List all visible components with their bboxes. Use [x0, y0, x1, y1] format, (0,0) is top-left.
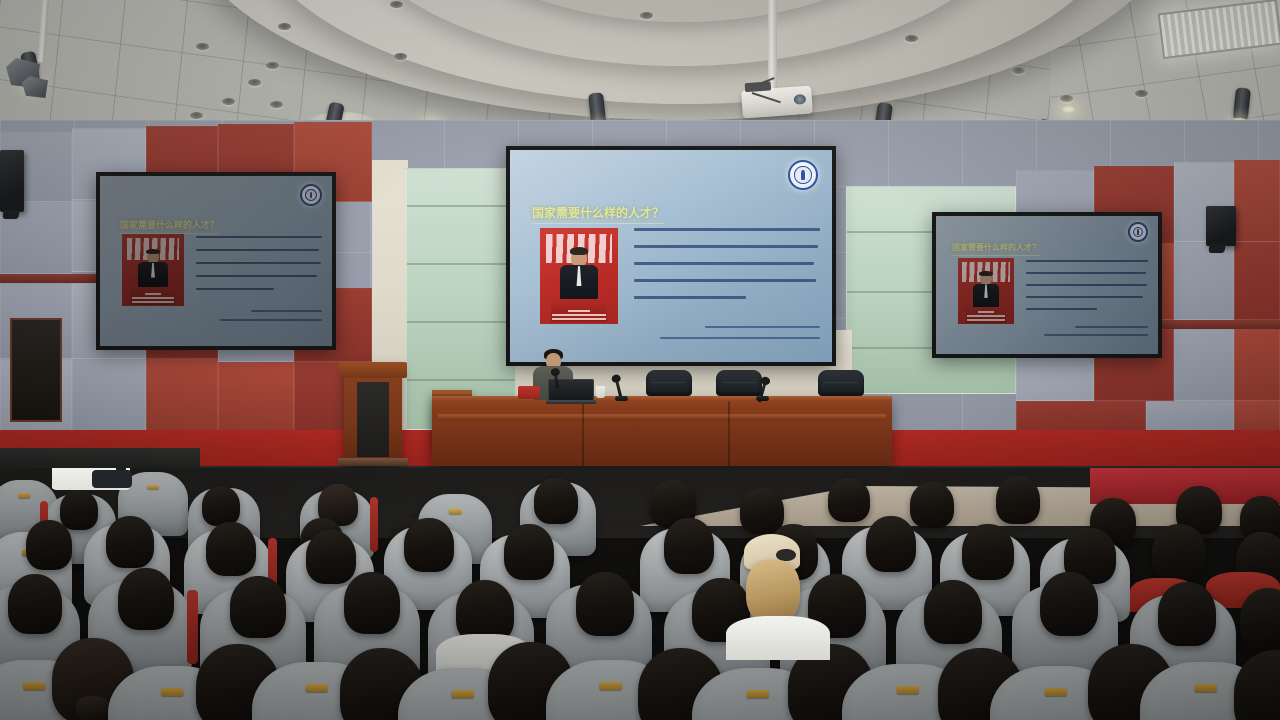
university-crest-logo: [788, 160, 818, 190]
center-slide-body: [634, 228, 820, 313]
audience-head: [118, 568, 174, 630]
left-slide-body: [196, 236, 322, 301]
ceiling-downlight: [1012, 67, 1025, 74]
side-doorway[interactable]: [10, 318, 62, 422]
wall-panel: [1234, 329, 1280, 401]
red-item-on-table: [518, 386, 540, 399]
audience-head: [910, 482, 954, 528]
ceiling-downlight: [394, 53, 407, 60]
audience-head: [924, 580, 982, 644]
lectern[interactable]: [344, 362, 402, 466]
ceiling-downlight: [278, 23, 291, 30]
wall-panel: [1234, 160, 1280, 242]
audience-head: [1234, 650, 1280, 720]
audience-head: [828, 478, 870, 522]
audience-head: [106, 516, 154, 568]
university-crest-logo: [300, 184, 322, 206]
center-slide-photo: [540, 228, 618, 324]
left-slide-title: 国家需要什么样的人才？: [120, 218, 219, 234]
ceiling-downlight: [270, 101, 283, 108]
ceiling-downlight: [1060, 95, 1073, 102]
wall-mounted-loudspeaker: [1206, 206, 1236, 246]
audience-man-with-phone: [52, 468, 142, 488]
audience-head: [60, 490, 98, 530]
ceiling-downlight: [248, 79, 261, 86]
audience-shoulders: [726, 616, 830, 660]
audience-ponytail: [76, 696, 110, 720]
right-slide-body: [1026, 260, 1148, 320]
center-projection-screen: 国家需要什么样的人才？: [506, 146, 836, 366]
audience-head: [206, 522, 256, 576]
audience-head: [1240, 588, 1280, 652]
audience-head: [996, 476, 1040, 524]
audience-chair-arm: [92, 470, 132, 488]
audience-head: [306, 530, 356, 584]
university-crest-logo: [1128, 222, 1148, 242]
wall-mounted-loudspeaker: [0, 150, 24, 212]
audience-seating-area: [0, 468, 1280, 720]
audience-head: [664, 518, 714, 574]
right-slide-title: 国家需要什么样的人才？: [952, 242, 1040, 256]
ceiling-downlight: [1135, 90, 1148, 97]
left-projection-screen: 国家需要什么样的人才？: [96, 172, 336, 350]
audience-head: [866, 516, 916, 572]
center-slide-attribution: [660, 326, 820, 339]
audience-head: [230, 576, 286, 638]
ceiling-downlight: [390, 1, 403, 8]
audience-head: [404, 518, 454, 572]
microphone-base: [756, 396, 769, 401]
ceiling-downlight: [266, 62, 279, 69]
audience-head: [504, 524, 554, 580]
audience-student-with-cap: [730, 534, 826, 654]
ceiling-downlight: [196, 43, 209, 50]
wall-panel: [218, 362, 294, 432]
audience-head: [1158, 582, 1216, 646]
right-slide-attribution: [1044, 326, 1148, 336]
left-slide: 国家需要什么样的人才？: [100, 176, 332, 346]
audience-head: [344, 572, 400, 634]
paper-cup[interactable]: [596, 386, 605, 398]
wall-panel: [1174, 329, 1234, 401]
audience-head: [740, 488, 784, 534]
right-slide: 国家需要什么样的人才？: [936, 216, 1158, 354]
ceiling-downlight: [640, 12, 653, 19]
left-slide-photo: [122, 234, 184, 306]
audience-head: [8, 574, 62, 634]
ceiling-downlight: [905, 35, 918, 42]
right-projection-screen: 国家需要什么样的人才？: [932, 212, 1162, 358]
audience-head: [576, 572, 634, 636]
audience-head: [962, 524, 1014, 580]
stage-chair[interactable]: [646, 370, 692, 400]
left-slide-attribution: [220, 310, 322, 321]
head-table: [432, 396, 892, 466]
ceiling-downlight: [190, 112, 203, 119]
audience-head: [1152, 524, 1206, 582]
audience-head: [534, 478, 578, 524]
wall-panel: [72, 359, 146, 433]
stage-chair[interactable]: [818, 370, 864, 400]
center-slide: 国家需要什么样的人才？: [510, 150, 832, 362]
audience-head: [202, 486, 240, 526]
center-slide-title: 国家需要什么样的人才？: [532, 204, 664, 224]
speaker-laptop[interactable]: [546, 379, 596, 404]
audience-head: [1040, 572, 1098, 636]
wall-panel: [1174, 242, 1234, 320]
ceiling-downlight: [222, 98, 235, 105]
stage-chair[interactable]: [716, 370, 762, 400]
wall-panel: [1234, 242, 1280, 320]
right-slide-photo: [958, 258, 1014, 324]
ceiling-downlight-lit: [1062, 106, 1075, 113]
microphone-base: [615, 396, 628, 401]
audience-head: [26, 520, 72, 570]
auditorium-scene: 国家需要什么样的人才？: [0, 0, 1280, 720]
wall-panel: [146, 359, 218, 433]
